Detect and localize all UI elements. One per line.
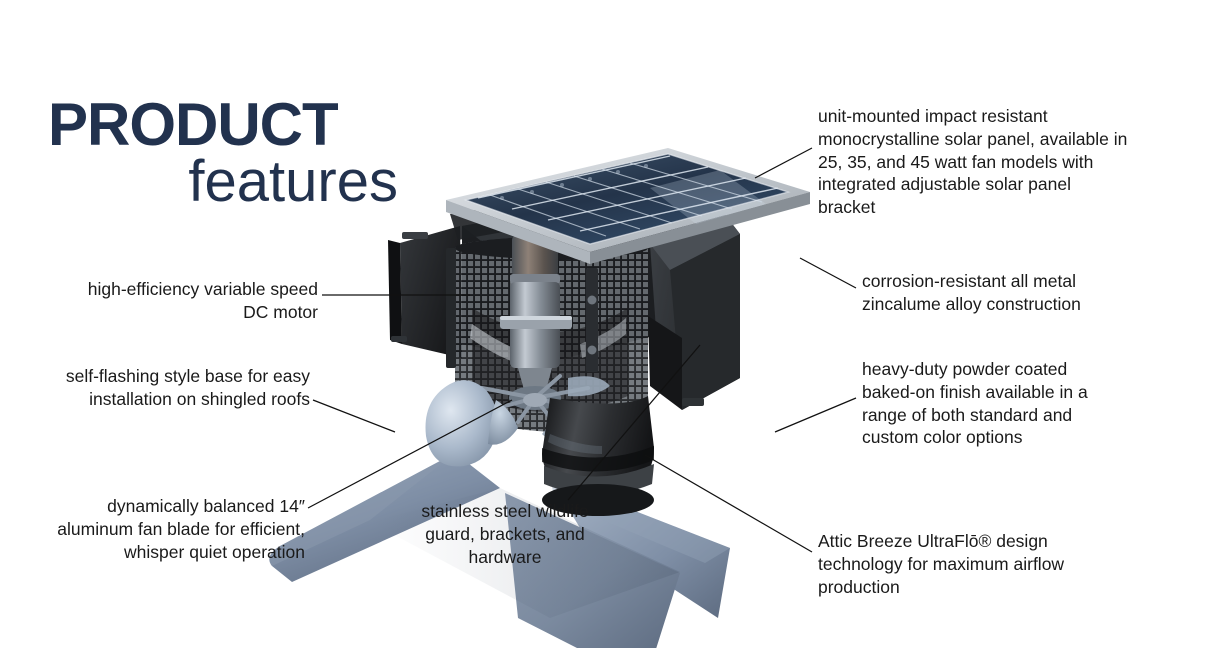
- callout-dc-motor: high-efficiency variable speed DC motor: [60, 278, 318, 324]
- callout-fan-blade: dynamically balanced 14″ aluminum fan bl…: [40, 495, 305, 563]
- callout-wildlife-guard: stainless steel wildlife guard, brackets…: [395, 500, 615, 568]
- callout-base: self-flashing style base for easy instal…: [50, 365, 310, 411]
- product-features-diagram: PRODUCT features: [0, 0, 1214, 667]
- product-illustration: [250, 148, 850, 648]
- callout-ultraflo: Attic Breeze UltraFlō® design technology…: [818, 530, 1088, 598]
- callout-corrosion: corrosion-resistant all metal zincalume …: [862, 270, 1142, 316]
- powder-coated-shroud: [542, 396, 654, 516]
- callout-solar-panel: unit-mounted impact resistant monocrysta…: [818, 105, 1128, 219]
- title-product: PRODUCT: [48, 96, 398, 153]
- callout-powder-coat: heavy-duty powder coated baked-on finish…: [862, 358, 1122, 449]
